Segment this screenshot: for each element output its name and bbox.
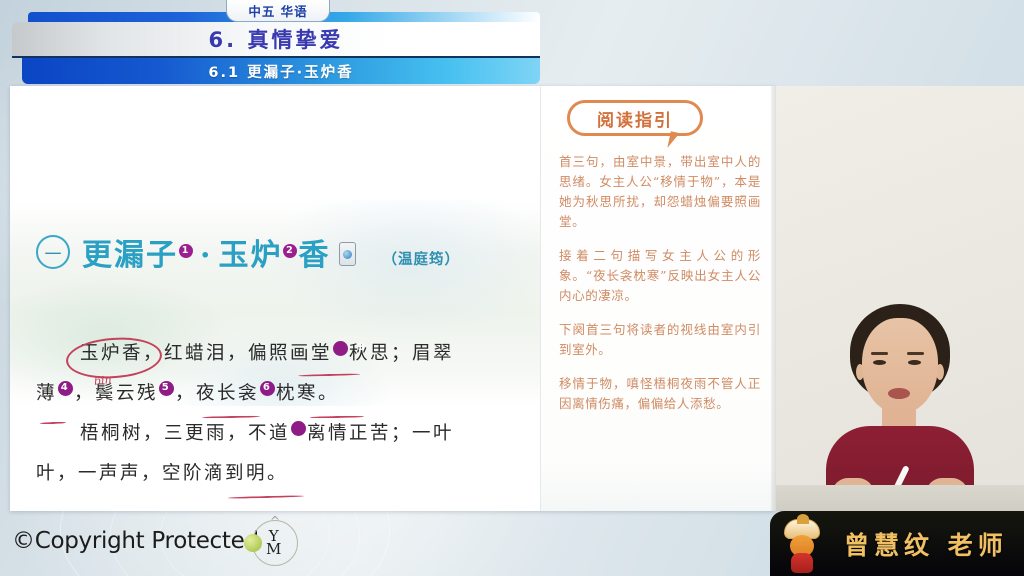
- section-marker-icon: 一: [36, 235, 70, 269]
- title-separator: ·: [200, 238, 212, 273]
- guide-paragraph: 下阕首三句将读者的视线由室内引到室外。: [559, 320, 761, 360]
- poem-title-part2: 玉炉: [218, 230, 282, 274]
- presenter-eyebrow: [907, 352, 924, 355]
- course-tab-label: 中五 华语: [248, 1, 307, 20]
- chapter-title-bar: 6. 真情挚爱: [12, 22, 540, 58]
- poem-line-text: ，夜长衾: [175, 383, 259, 404]
- poem-author: （温庭筠）: [382, 248, 460, 269]
- logo-dot-icon: [244, 534, 262, 552]
- reading-guide-label: 阅读指引: [597, 106, 673, 131]
- presenter-face: [862, 318, 938, 414]
- handwritten-underline: [228, 495, 304, 499]
- reading-guide-text: 首三句，由室中景，带出室中人的思绪。女主人公“移情于物”，本是她为秋思所扰，却怨…: [559, 152, 761, 428]
- poem-line-text: 离情正苦；一叶: [307, 423, 454, 444]
- course-tab[interactable]: 中五 华语: [226, 0, 330, 22]
- guide-paragraph: 首三句，由室中景，带出室中人的思绪。女主人公“移情于物”，本是她为秋思所扰，却怨…: [559, 152, 761, 232]
- guide-paragraph: 接着二句描写女主人公的形象。“夜长衾枕寒”反映出女主人公内心的凄凉。: [559, 246, 761, 306]
- poem-line-text: 叶，一声声，空阶滴到明。: [36, 463, 288, 484]
- footnote-badge-6: 6: [260, 381, 275, 396]
- section-title-bar: 6.1 更漏子·玉炉香: [22, 58, 540, 84]
- footnote-badge-4: 4: [58, 381, 73, 396]
- poem-line: 玉炉香，红蜡泪，偏照画堂3秋思；眉翠: [36, 334, 522, 374]
- logo-monogram: YM: [266, 530, 281, 556]
- tiger-lion-dance-mascot-icon: [776, 515, 834, 573]
- presenter-video-panel[interactable]: [776, 86, 1024, 511]
- bubble-tail-icon: [667, 131, 679, 149]
- poem-line-text: 梧桐树，三更雨，不道: [80, 423, 290, 444]
- footnote-badge-7: 7: [291, 421, 306, 436]
- mascot-body: [791, 553, 813, 573]
- presenter-eye: [873, 360, 886, 365]
- footnote-badge-1: 1: [179, 244, 193, 258]
- poem-body: 玉炉香，红蜡泪，偏照画堂3秋思；眉翠 薄4，鬓云残5，夜长衾6枕寒。 梧桐树，三…: [36, 334, 522, 494]
- poem-line-text: 枕寒。: [276, 383, 339, 404]
- poem-line-text: 薄: [36, 383, 57, 404]
- slide-screen: 6. 真情挚爱 6.1 更漏子·玉炉香 中五 华语 一 更漏子1·玉炉2香 （温…: [0, 0, 1024, 576]
- presenter-eyebrow: [871, 352, 888, 355]
- poem-title-part3: 香: [298, 230, 330, 274]
- presenter-desk: [776, 485, 1024, 511]
- poem-title-text: 更漏子1·玉炉2香: [82, 230, 330, 274]
- poem-line: 叶，一声声，空阶滴到明。: [36, 454, 522, 494]
- guide-paragraph: 移情于物，嗔怪梧桐夜雨不管人正因离情伤痛，偏偏给人添愁。: [559, 374, 761, 414]
- teacher-name: 曾慧纹 老师: [844, 526, 1008, 562]
- presenter-mouth: [888, 388, 910, 399]
- mobile-play-icon[interactable]: [339, 242, 356, 266]
- header: 6. 真情挚爱 6.1 更漏子·玉炉香 中五 华语: [0, 0, 560, 92]
- presenter-eye: [908, 360, 921, 365]
- section-title: 6.1 更漏子·玉炉香: [208, 61, 353, 82]
- footnote-badge-3: 3: [333, 341, 348, 356]
- poem-title-part1: 更漏子: [82, 230, 178, 274]
- textbook-left-page: 一 更漏子1·玉炉2香 （温庭筠） 玉炉香，红蜡泪，偏照画堂3秋思；眉翠 薄4，…: [10, 86, 540, 511]
- page-title: 6. 真情挚爱: [209, 24, 344, 54]
- footnote-badge-5: 5: [159, 381, 174, 396]
- reading-guide-page: 阅读指引 首三句，由室中景，带出室中人的思绪。女主人公“移情于物”，本是她为秋思…: [540, 86, 776, 511]
- poem-line: 梧桐树，三更雨，不道7离情正苦；一叶: [36, 414, 522, 454]
- copyright-logo: ^ YM: [244, 516, 302, 574]
- footnote-badge-2: 2: [283, 244, 297, 258]
- poem-line-text: ，鬓云残: [74, 383, 158, 404]
- reading-guide-bubble: 阅读指引: [567, 100, 703, 136]
- teacher-name-banner: 曾慧纹 老师: [770, 511, 1024, 576]
- slide-card: 一 更漏子1·玉炉2香 （温庭筠） 玉炉香，红蜡泪，偏照画堂3秋思；眉翠 薄4，…: [10, 86, 776, 511]
- poem-title: 一 更漏子1·玉炉2香 （温庭筠）: [36, 230, 460, 274]
- poem-line-text: 玉炉香，红蜡泪，偏照画堂: [80, 343, 332, 364]
- copyright-text: ©Copyright Protected: [12, 528, 259, 554]
